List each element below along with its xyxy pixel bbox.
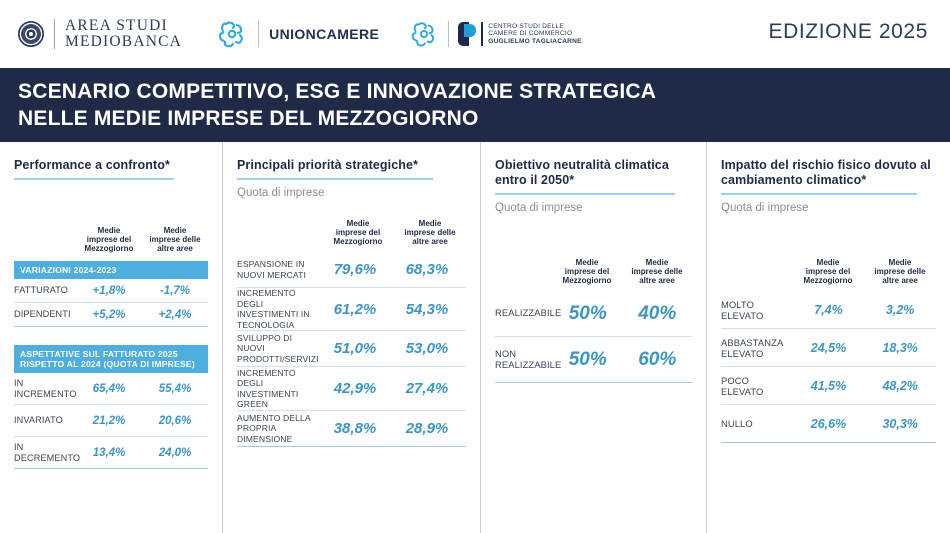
unioncamere-flower-icon-2 xyxy=(409,19,439,49)
unioncamere-wordmark: UNIONCAMERE xyxy=(269,26,379,42)
row-value-altre-aree: 28,9% xyxy=(391,420,463,437)
row-value-mezzogiorno: 13,4% xyxy=(76,447,142,459)
tagliacarne-line1: CENTRO STUDI DELLE xyxy=(488,23,581,31)
column-headers: Medie imprese del Mezzogiorno Medie impr… xyxy=(14,226,208,253)
logo-unioncamere: UNIONCAMERE xyxy=(216,18,379,50)
column-headers: Medie imprese del Mezzogiorno Medie impr… xyxy=(495,258,692,285)
row-label: ESPANSIONE IN NUOVI MERCATI xyxy=(237,259,319,280)
row-label: FATTURATO xyxy=(14,285,76,296)
table-row: POCO ELEVATO 41,5% 48,2% xyxy=(721,367,936,405)
panel-title: Impatto del rischio fisico dovuto al cam… xyxy=(721,158,936,188)
divider-bar xyxy=(481,22,483,46)
table-row: SVILUPPO DI NUOVI PRODOTTI/SERVIZI 51,0%… xyxy=(237,331,466,367)
edition-label: EDIZIONE 2025 xyxy=(768,20,928,44)
row-value-altre-aree: 53,0% xyxy=(391,340,463,357)
header-mezzogiorno: Medie imprese del Mezzogiorno xyxy=(76,226,142,253)
row-value-altre-aree: -1,7% xyxy=(142,285,208,297)
table-row: INVARIATO 21,2% 20,6% xyxy=(14,405,208,437)
page-title-line1: SCENARIO COMPETITIVO, ESG E INNOVAZIONE … xyxy=(18,78,950,105)
row-label: REALIZZABILE xyxy=(495,308,553,319)
row-label: INCREMENTO DEGLI INVESTIMENTI GREEN xyxy=(237,368,319,410)
row-value-altre-aree: 54,3% xyxy=(391,301,463,318)
panel-performance: Performance a confronto* Medie imprese d… xyxy=(0,142,222,533)
row-label: INVARIATO xyxy=(14,415,76,426)
section-band-variazioni: VARIAZIONI 2024-2023 xyxy=(14,261,208,279)
table-row: ABBASTANZA ELEVATO 24,5% 18,3% xyxy=(721,329,936,367)
row-label: AUMENTO DELLA PROPRIA DIMENSIONE xyxy=(237,413,319,445)
header-mezzogiorno: Medie imprese del Mezzogiorno xyxy=(552,258,622,285)
table-row: IN INCREMENTO 65,4% 55,4% xyxy=(14,373,208,405)
row-value-mezzogiorno: +5,2% xyxy=(76,309,142,321)
panel-rischio-fisico: Impatto del rischio fisico dovuto al cam… xyxy=(706,142,950,533)
page-title-line2: NELLE MEDIE IMPRESE DEL MEZZOGIORNO xyxy=(18,105,950,132)
row-value-altre-aree: 24,0% xyxy=(142,447,208,459)
row-value-altre-aree: 27,4% xyxy=(391,380,463,397)
header-altre-aree: Medie imprese delle altre aree xyxy=(622,258,692,285)
row-value-mezzogiorno: 50% xyxy=(553,349,623,371)
table-variazioni: VARIAZIONI 2024-2023 FATTURATO +1,8% -1,… xyxy=(14,261,208,327)
mediobanca-line2: MEDIOBANCA xyxy=(65,34,182,50)
tagliacarne-mark-icon xyxy=(458,22,476,46)
panel-subtitle: Quota di imprese xyxy=(721,202,936,214)
row-label: MOLTO ELEVATO xyxy=(721,299,793,321)
row-value-altre-aree: 18,3% xyxy=(864,341,936,355)
title-underline xyxy=(14,178,174,180)
header-altre-aree: Medie imprese delle altre aree xyxy=(394,219,466,246)
row-value-altre-aree: 3,2% xyxy=(864,303,936,317)
tagliacarne-line3: GUGLIELMO TAGLIACARNE xyxy=(488,38,581,46)
section-band-aspettative: ASPETTATIVE SUL FATTURATO 2025 RISPETTO … xyxy=(14,345,208,373)
panel-title: Performance a confronto* xyxy=(14,158,208,173)
table-row: IN DECREMENTO 13,4% 24,0% xyxy=(14,437,208,469)
logo-group: AREA STUDI MEDIOBANCA xyxy=(0,18,582,50)
tagliacarne-wordmark: CENTRO STUDI DELLE CAMERE DI COMMERCIO G… xyxy=(488,23,581,46)
row-value-mezzogiorno: 65,4% xyxy=(76,383,142,395)
panel-title: Principali priorità strategiche* xyxy=(237,158,466,173)
row-value-altre-aree: 55,4% xyxy=(142,383,208,395)
mediobanca-wordmark: AREA STUDI MEDIOBANCA xyxy=(65,18,182,50)
row-label: DIPENDENTI xyxy=(14,309,76,320)
table-row: NULLO 26,6% 30,3% xyxy=(721,405,936,443)
row-value-mezzogiorno: 42,9% xyxy=(319,380,391,397)
row-value-altre-aree: 60% xyxy=(623,349,693,371)
tagliacarne-line2: CAMERE DI COMMERCIO xyxy=(488,30,581,38)
row-value-mezzogiorno: 7,4% xyxy=(793,303,865,317)
row-value-mezzogiorno: 41,5% xyxy=(793,379,865,393)
logo-centro-studi-tagliacarne: CENTRO STUDI DELLE CAMERE DI COMMERCIO G… xyxy=(409,19,581,49)
infographic-page: AREA STUDI MEDIOBANCA xyxy=(0,0,950,533)
title-underline xyxy=(495,193,675,195)
table-row: REALIZZABILE 50% 40% xyxy=(495,291,692,337)
table-priorita: ESPANSIONE IN NUOVI MERCATI 79,6% 68,3% … xyxy=(237,252,466,447)
table-aspettative: ASPETTATIVE SUL FATTURATO 2025 RISPETTO … xyxy=(14,345,208,469)
table-row: FATTURATO +1,8% -1,7% xyxy=(14,279,208,303)
panel-neutralita-climatica: Obiettivo neutralità climatica entro il … xyxy=(480,142,706,533)
header-mezzogiorno: Medie imprese del Mezzogiorno xyxy=(792,258,864,285)
table-row: ESPANSIONE IN NUOVI MERCATI 79,6% 68,3% xyxy=(237,252,466,288)
table-row: NON REALIZZABILE 50% 60% xyxy=(495,337,692,383)
row-value-altre-aree: 30,3% xyxy=(864,417,936,431)
row-value-altre-aree: 48,2% xyxy=(864,379,936,393)
unioncamere-flower-icon xyxy=(216,18,248,50)
row-label: POCO ELEVATO xyxy=(721,375,793,397)
table-rischio: MOLTO ELEVATO 7,4% 3,2% ABBASTANZA ELEVA… xyxy=(721,291,936,443)
title-underline xyxy=(237,178,433,180)
columns-container: Performance a confronto* Medie imprese d… xyxy=(0,142,950,533)
panel-subtitle: Quota di imprese xyxy=(237,187,466,199)
row-value-altre-aree: +2,4% xyxy=(142,309,208,321)
panel-title: Obiettivo neutralità climatica entro il … xyxy=(495,158,692,188)
mediobanca-line1: AREA STUDI xyxy=(65,18,182,34)
row-value-altre-aree: 20,6% xyxy=(142,415,208,427)
row-value-mezzogiorno: +1,8% xyxy=(76,285,142,297)
row-value-mezzogiorno: 21,2% xyxy=(76,415,142,427)
divider xyxy=(54,19,55,49)
header-bar: AREA STUDI MEDIOBANCA xyxy=(0,0,950,68)
panel-subtitle: Quota di imprese xyxy=(495,202,692,214)
table-row: INCREMENTO DEGLI INVESTIMENTI GREEN 42,9… xyxy=(237,367,466,411)
row-value-mezzogiorno: 26,6% xyxy=(793,417,865,431)
row-value-altre-aree: 68,3% xyxy=(391,261,463,278)
column-headers: Medie imprese del Mezzogiorno Medie impr… xyxy=(237,219,466,246)
table-row: DIPENDENTI +5,2% +2,4% xyxy=(14,303,208,327)
row-value-mezzogiorno: 61,2% xyxy=(319,301,391,318)
row-label: NULLO xyxy=(721,418,793,429)
logo-area-studi-mediobanca: AREA STUDI MEDIOBANCA xyxy=(18,18,182,50)
row-label: IN INCREMENTO xyxy=(14,378,76,399)
title-underline xyxy=(721,193,917,195)
panel-priorita-strategiche: Principali priorità strategiche* Quota d… xyxy=(222,142,480,533)
title-bar: SCENARIO COMPETITIVO, ESG E INNOVAZIONE … xyxy=(0,68,950,142)
mediobanca-seal-icon xyxy=(18,21,44,47)
header-altre-aree: Medie imprese delle altre aree xyxy=(864,258,936,285)
divider xyxy=(258,21,259,47)
row-value-mezzogiorno: 24,5% xyxy=(793,341,865,355)
table-row: MOLTO ELEVATO 7,4% 3,2% xyxy=(721,291,936,329)
row-value-mezzogiorno: 79,6% xyxy=(319,261,391,278)
table-neutralita: REALIZZABILE 50% 40% NON REALIZZABILE 50… xyxy=(495,291,692,383)
row-value-mezzogiorno: 38,8% xyxy=(319,420,391,437)
row-label: NON REALIZZABILE xyxy=(495,349,553,370)
row-label: SVILUPPO DI NUOVI PRODOTTI/SERVIZI xyxy=(237,333,319,365)
column-headers: Medie imprese del Mezzogiorno Medie impr… xyxy=(721,258,936,285)
spacer xyxy=(14,327,208,345)
row-label: ABBASTANZA ELEVATO xyxy=(721,337,793,359)
row-value-mezzogiorno: 50% xyxy=(553,303,623,325)
row-value-mezzogiorno: 51,0% xyxy=(319,340,391,357)
divider xyxy=(448,21,449,47)
header-mezzogiorno: Medie imprese del Mezzogiorno xyxy=(322,219,394,246)
table-row: AUMENTO DELLA PROPRIA DIMENSIONE 38,8% 2… xyxy=(237,411,466,447)
row-label: IN DECREMENTO xyxy=(14,442,76,463)
row-label: INCREMENTO DEGLI INVESTIMENTI IN TECNOLO… xyxy=(237,288,319,330)
table-row: INCREMENTO DEGLI INVESTIMENTI IN TECNOLO… xyxy=(237,288,466,331)
row-value-altre-aree: 40% xyxy=(623,303,693,325)
header-altre-aree: Medie imprese delle altre aree xyxy=(142,226,208,253)
